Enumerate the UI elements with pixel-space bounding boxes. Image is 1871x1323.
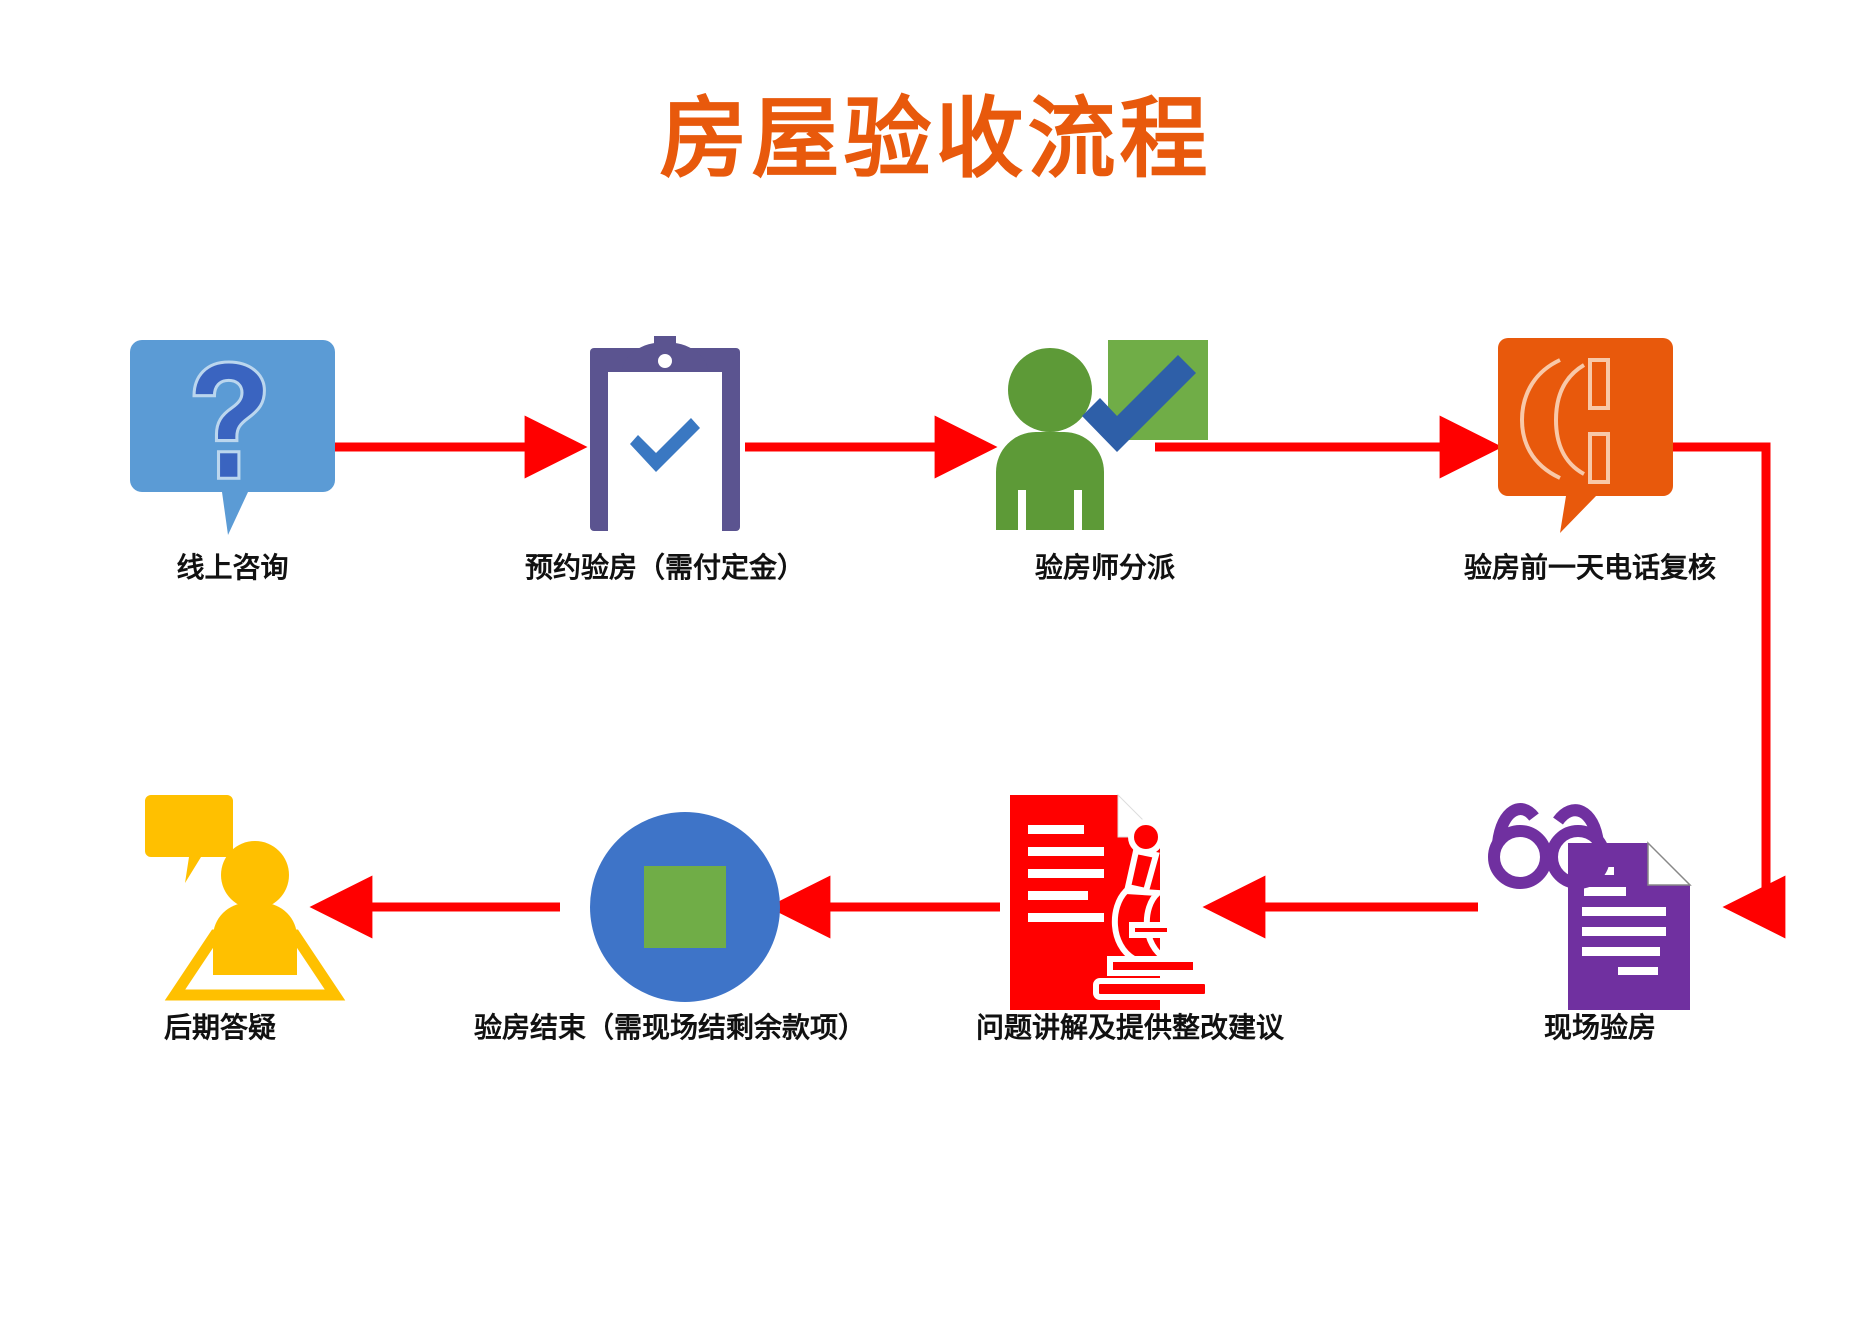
step-label-8: 后期答疑 [70,1008,370,1049]
step-label-6: 问题讲解及提供整改建议 [930,1008,1330,1049]
step-label-1: 线上咨询 [60,548,405,589]
speech-bubble-question-icon [130,340,335,535]
document-microscope-icon [1010,795,1225,1010]
page-title: 房屋验收流程 [0,95,1871,183]
step-label-3: 验房师分派 [960,548,1250,589]
document-glasses-icon [1490,795,1705,1010]
arrow-connectors [0,0,1871,1323]
person-check-icon [990,340,1220,530]
speech-bubble [145,795,233,883]
circle-square-icon [590,812,780,1002]
step-label-4: 验房前一天电话复核 [1420,548,1760,589]
flowchart-canvas: 房屋验收流程 线上咨询 [0,0,1871,1323]
step-label-2: 预约验房（需付定金） [500,548,830,589]
speech-bubble-phone-icon [1498,338,1673,533]
step-label-7: 验房结束（需现场结剩余款项） [460,1008,880,1049]
person-speech-bubble-icon [145,795,345,1010]
clipboard-check-icon [590,336,740,531]
step-label-5: 现场验房 [1470,1008,1730,1049]
